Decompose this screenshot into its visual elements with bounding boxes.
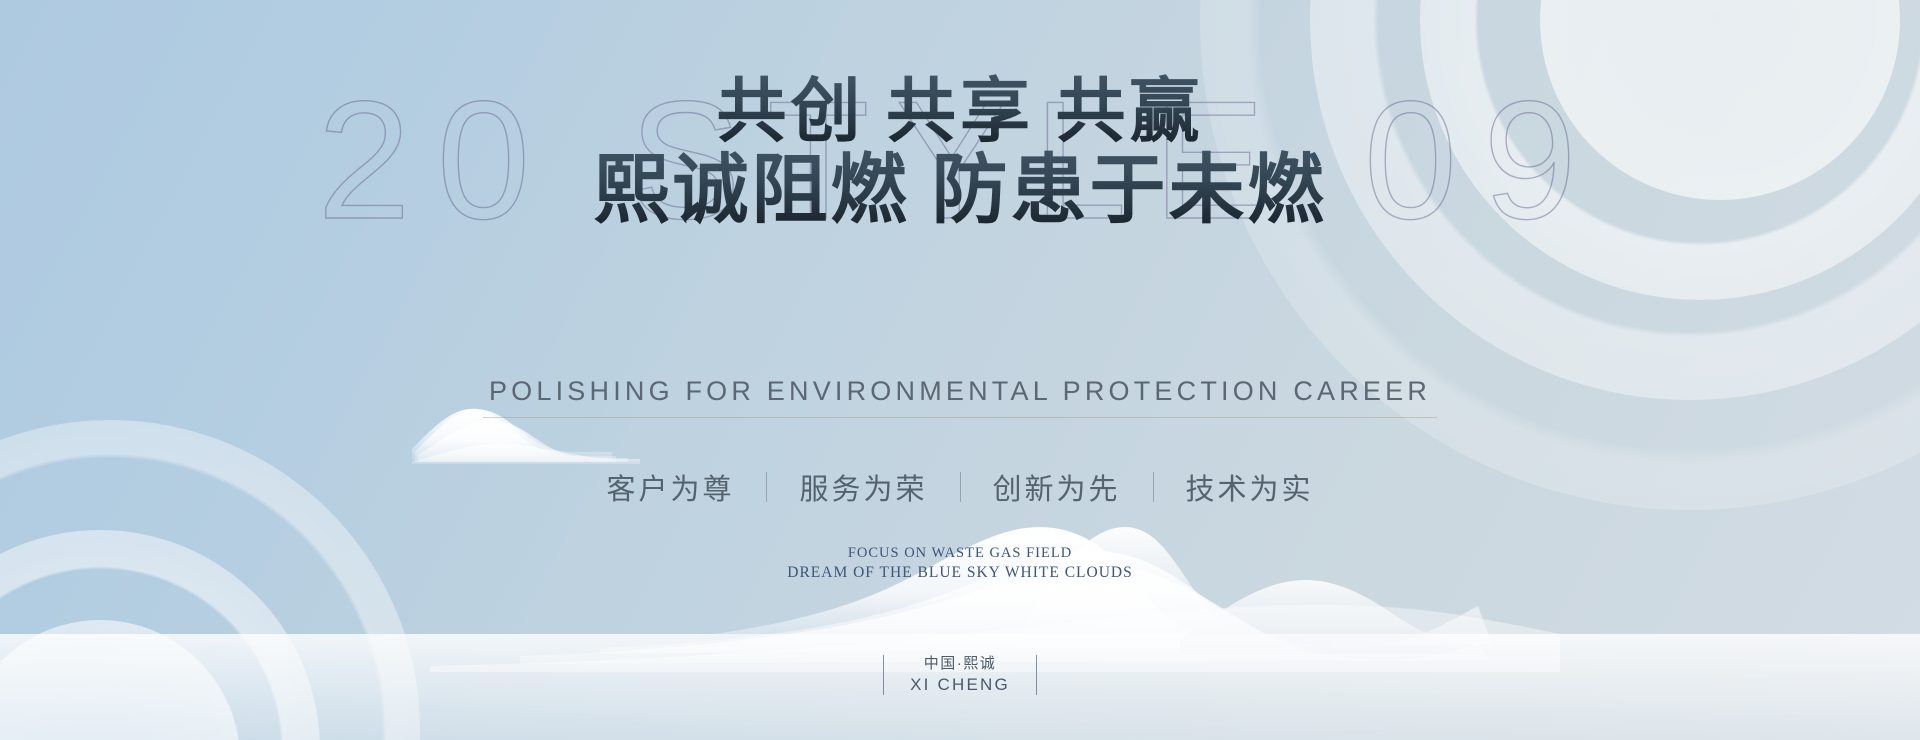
- value-item-1: 客户为尊: [574, 466, 766, 508]
- value-list: 客户为尊 服务为荣 创新为先 技术为实: [0, 466, 1920, 508]
- value-item-3: 创新为先: [961, 466, 1153, 508]
- brand-name-cn: 中国·熙诚: [910, 654, 1010, 674]
- micro-slogan-block: FOCUS ON WASTE GAS FIELD DREAM OF THE BL…: [0, 543, 1920, 583]
- headline-line-1: 共创 共享 共赢: [0, 74, 1920, 152]
- brand-text: 中国·熙诚 XI CHENG: [910, 654, 1010, 696]
- value-item-2: 服务为荣: [767, 466, 959, 508]
- value-separator-2: [960, 472, 961, 502]
- brand-rule-right: [1036, 655, 1038, 695]
- value-separator-1: [766, 472, 767, 502]
- english-tagline: POLISHING FOR ENVIRONMENTAL PROTECTION C…: [483, 376, 1437, 418]
- micro-slogan-line-2: DREAM OF THE BLUE SKY WHITE CLOUDS: [0, 563, 1920, 583]
- headline-block: 共创 共享 共赢 熙诚阻燃 防患于未燃: [0, 74, 1920, 234]
- brand-lockup: 中国·熙诚 XI CHENG: [0, 654, 1920, 696]
- promo-banner: 20 STYLE 09: [0, 0, 1920, 740]
- micro-slogan-line-1: FOCUS ON WASTE GAS FIELD: [0, 543, 1920, 563]
- value-item-4: 技术为实: [1154, 466, 1346, 508]
- headline-line-2: 熙诚阻燃 防患于未燃: [0, 148, 1920, 234]
- brand-name-en: XI CHENG: [910, 674, 1010, 696]
- brand-rule-left: [883, 655, 885, 695]
- tagline-wrap: POLISHING FOR ENVIRONMENTAL PROTECTION C…: [0, 376, 1920, 418]
- value-separator-3: [1153, 472, 1154, 502]
